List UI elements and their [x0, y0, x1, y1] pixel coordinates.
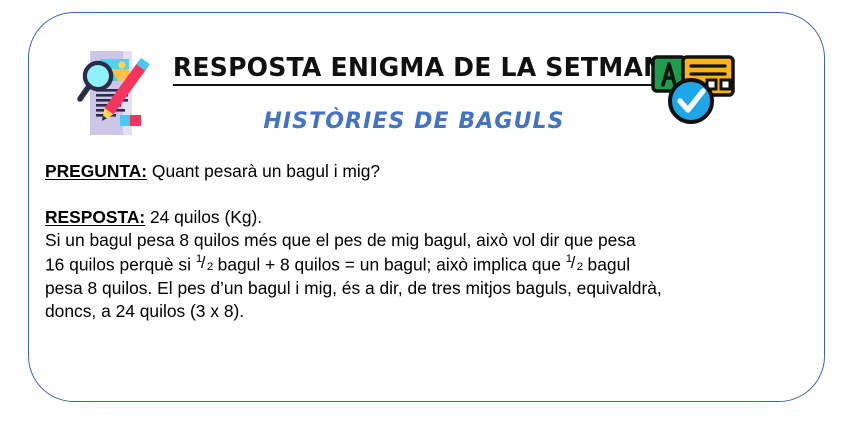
explanation-line-2-part-a: 16 quilos perquè si [45, 254, 196, 274]
page-title: RESPOSTA ENIGMA DE LA SETMANA [173, 53, 684, 86]
answer-label: RESPOSTA: [45, 207, 145, 227]
question-text: Quant pesarà un bagul i mig? [147, 161, 380, 181]
fraction-one-half: 1/2 [196, 253, 213, 270]
answer-card: RESPOSTA ENIGMA DE LA SETMANA HISTÒRIES … [28, 12, 825, 402]
answer-line: RESPOSTA: 24 quilos (Kg). [45, 206, 815, 230]
question-label: PREGUNTA: [45, 161, 147, 181]
explanation-line-2-part-c: bagul [583, 254, 630, 274]
explanation-line-1: Si un bagul pesa 8 quilos més que el pes… [45, 229, 815, 253]
fraction-one-half-second: 1/2 [566, 253, 583, 270]
explanation-line-4: doncs, a 24 quilos (3 x 8). [45, 300, 815, 324]
answer-text: 24 quilos (Kg). [145, 207, 262, 227]
fraction-slash: / [201, 251, 206, 275]
page-subtitle: HISTÒRIES DE BAGULS [169, 109, 659, 134]
fraction-denominator: 2 [577, 256, 583, 280]
spacer [45, 184, 815, 206]
id-card-verified-check-icon [647, 53, 739, 131]
fraction-denominator: 2 [207, 256, 213, 280]
card-header: RESPOSTA ENIGMA DE LA SETMANA HISTÒRIES … [29, 31, 824, 151]
question-line: PREGUNTA: Quant pesarà un bagul i mig? [45, 160, 815, 184]
explanation-line-3: pesa 8 quilos. El pes d’un bagul i mig, … [45, 277, 815, 301]
document-magnifier-pencil-icon [76, 49, 152, 137]
card-body: PREGUNTA: Quant pesarà un bagul i mig? R… [45, 160, 815, 324]
fraction-slash: / [571, 251, 576, 275]
explanation-line-2: 16 quilos perquè si 1/2 bagul + 8 quilos… [45, 253, 815, 277]
explanation-line-2-part-b: bagul + 8 quilos = un bagul; això implic… [213, 254, 566, 274]
title-block: RESPOSTA ENIGMA DE LA SETMANA HISTÒRIES … [169, 53, 659, 134]
